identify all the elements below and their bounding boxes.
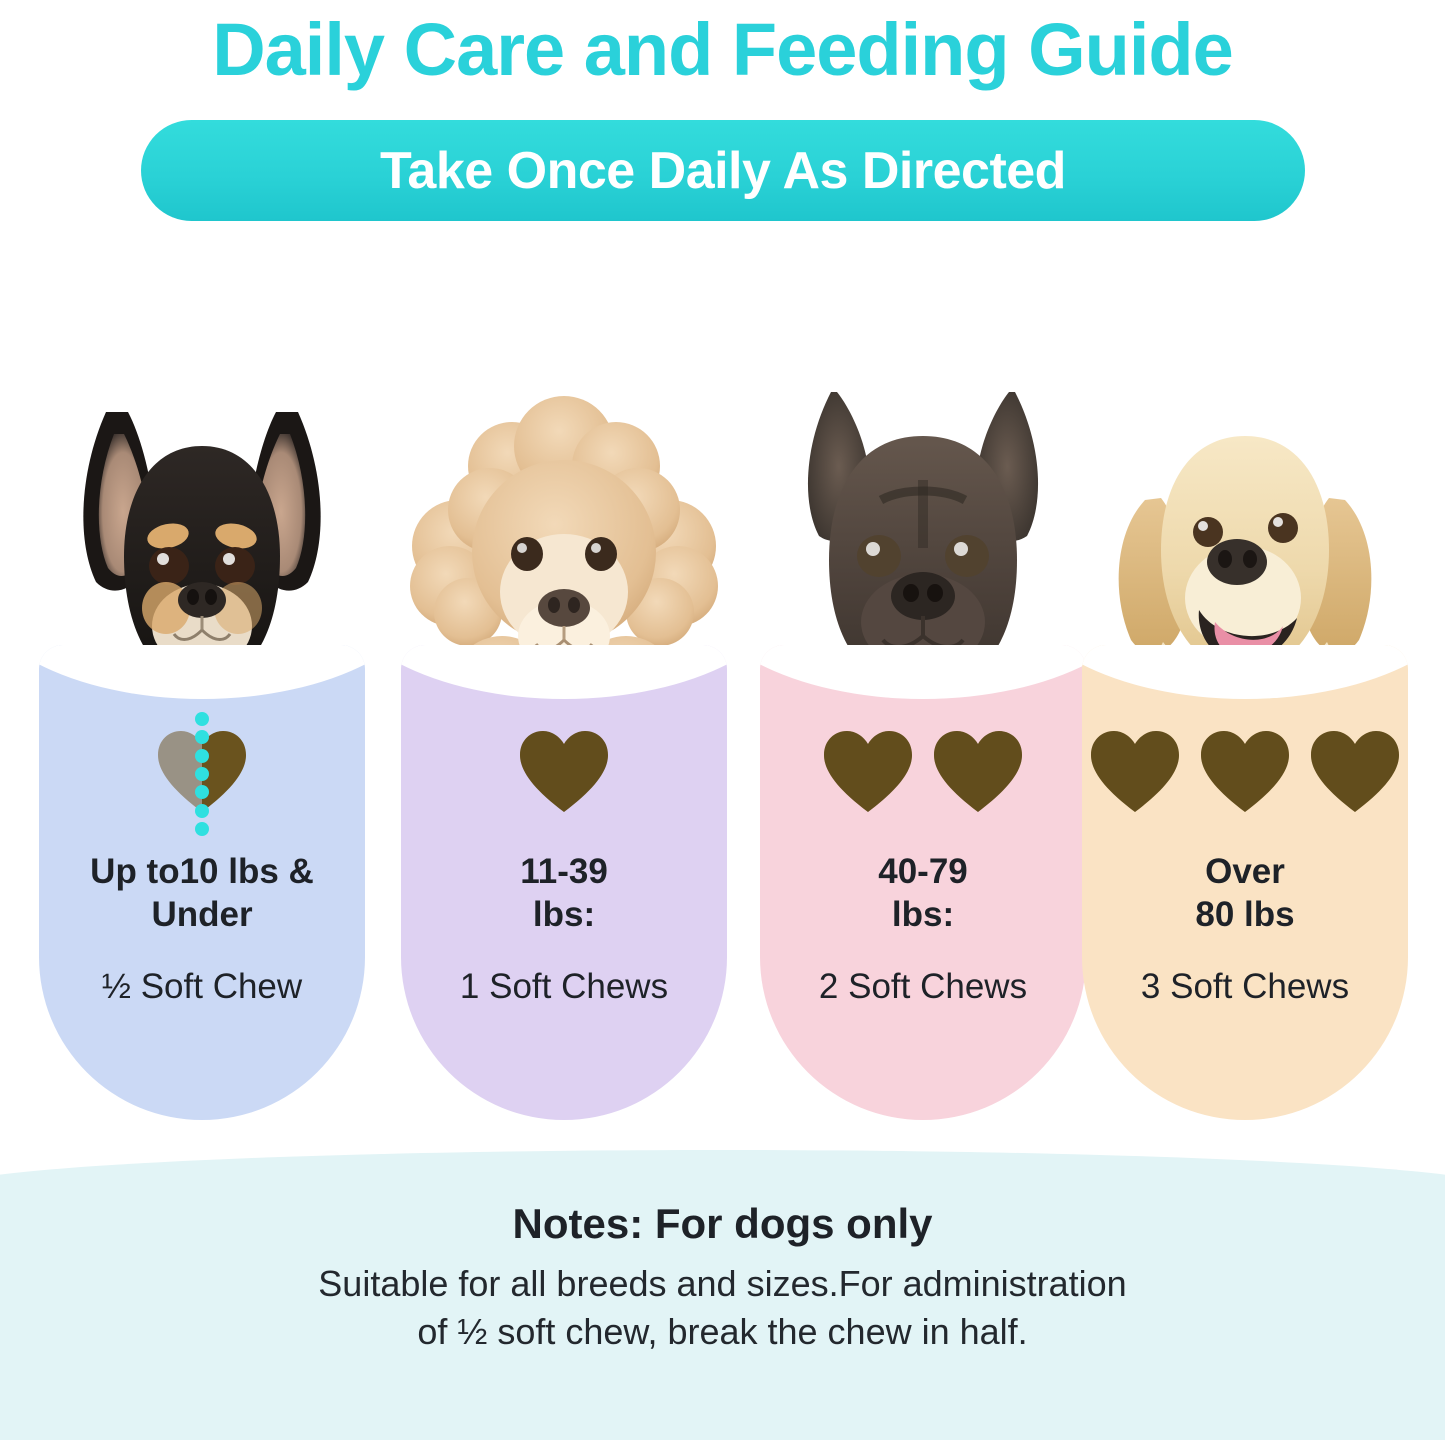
- heart-chew-icon: [1307, 728, 1403, 816]
- directive-banner: Take Once Daily As Directed: [141, 120, 1305, 221]
- dosage-card-body: Up to10 lbs & Under½ Soft Chew: [39, 645, 365, 1120]
- dosage-card-poodle: 11-39 lbs:1 Soft Chews: [394, 290, 734, 1120]
- dose-amount-label: 1 Soft Chews: [401, 965, 727, 1008]
- dose-amount-label: 3 Soft Chews: [1082, 965, 1408, 1008]
- heart-chew-icon: [930, 728, 1026, 816]
- dosage-card-body: Over 80 lbs3 Soft Chews: [1082, 645, 1408, 1120]
- directive-banner-label: Take Once Daily As Directed: [380, 143, 1066, 199]
- chew-count-illustration: [39, 707, 365, 837]
- page-title: Daily Care and Feeding Guide: [0, 2, 1445, 98]
- dose-amount-label: ½ Soft Chew: [39, 965, 365, 1008]
- dosage-card-french-bulldog: 40-79 lbs:2 Soft Chews: [753, 290, 1093, 1120]
- dosage-card-golden-retriever: Over 80 lbs3 Soft Chews: [1075, 290, 1415, 1120]
- chew-count-illustration: [760, 707, 1086, 837]
- heart-chew-icon: [1087, 728, 1183, 816]
- dosage-cards-row: Up to10 lbs & Under½ Soft Chew: [0, 290, 1445, 1120]
- heart-chew-icon: [154, 728, 250, 816]
- split-dotted-line-icon: [194, 712, 210, 836]
- weight-range-label: Over 80 lbs: [1082, 850, 1408, 936]
- footer-content: Notes: For dogs only Suitable for all br…: [0, 1150, 1445, 1356]
- dosage-card-body: 11-39 lbs:1 Soft Chews: [401, 645, 727, 1120]
- chew-count-illustration: [401, 707, 727, 837]
- heart-chew-icon: [1197, 728, 1293, 816]
- notes-heading: Notes: For dogs only: [0, 1198, 1445, 1250]
- footer-notes: Notes: For dogs only Suitable for all br…: [0, 1150, 1445, 1395]
- header: Daily Care and Feeding Guide Take Once D…: [0, 0, 1445, 240]
- weight-range-label: Up to10 lbs & Under: [39, 850, 365, 936]
- dose-amount-label: 2 Soft Chews: [760, 965, 1086, 1008]
- heart-chew-icon: [516, 728, 612, 816]
- notes-body: Suitable for all breeds and sizes.For ad…: [0, 1260, 1445, 1356]
- dosage-card-chihuahua: Up to10 lbs & Under½ Soft Chew: [32, 290, 372, 1120]
- chew-count-illustration: [1082, 707, 1408, 837]
- weight-range-label: 40-79 lbs:: [760, 850, 1086, 936]
- dosage-card-body: 40-79 lbs:2 Soft Chews: [760, 645, 1086, 1120]
- weight-range-label: 11-39 lbs:: [401, 850, 727, 936]
- heart-chew-icon: [820, 728, 916, 816]
